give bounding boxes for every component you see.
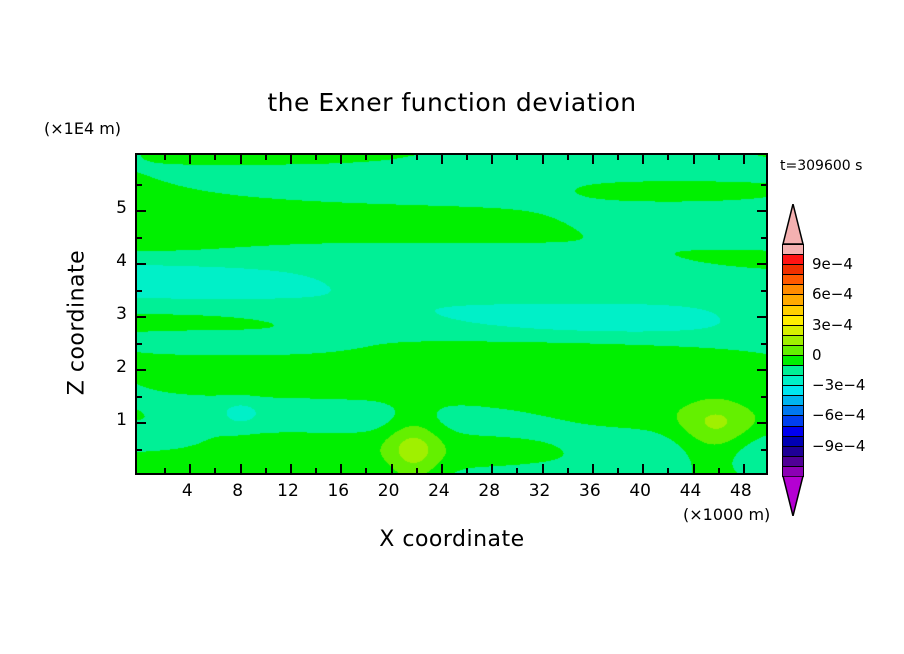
x-tick-major — [391, 464, 393, 473]
colorbar-label: 6e−4 — [812, 285, 853, 303]
y-tick-label: 3 — [107, 304, 127, 324]
y-tick-major-right — [757, 422, 766, 424]
x-tick-minor-top — [164, 155, 166, 160]
x-tick-major — [189, 464, 191, 473]
x-tick-minor — [617, 468, 619, 473]
colorbar — [782, 204, 804, 516]
x-tick-major — [542, 464, 544, 473]
x-tick-label: 28 — [478, 481, 500, 501]
x-tick-major — [340, 464, 342, 473]
x-tick-major-top — [290, 155, 292, 164]
x-tick-label: 16 — [327, 481, 349, 501]
x-tick-major-top — [743, 155, 745, 164]
y-tick-minor — [137, 449, 142, 451]
x-tick-label: 12 — [277, 481, 299, 501]
y-tick-minor-right — [761, 343, 766, 345]
x-tick-label: 44 — [680, 481, 702, 501]
x-tick-major-top — [391, 155, 393, 164]
colorbar-label: 9e−4 — [812, 255, 853, 273]
x-tick-minor-top — [667, 155, 669, 160]
colorbar-label: −9e−4 — [812, 437, 865, 455]
y-tick-minor-right — [761, 396, 766, 398]
y-tick-minor — [137, 396, 142, 398]
colorbar-label: −3e−4 — [812, 376, 865, 394]
contour-field — [137, 155, 766, 473]
x-tick-minor-top — [617, 155, 619, 160]
x-tick-minor-top — [718, 155, 720, 160]
x-tick-minor — [718, 468, 720, 473]
x-tick-minor — [265, 468, 267, 473]
x-tick-minor-top — [416, 155, 418, 160]
y-tick-major-right — [757, 369, 766, 371]
x-axis-title: X coordinate — [0, 527, 904, 552]
x-tick-minor — [466, 468, 468, 473]
x-tick-major — [240, 464, 242, 473]
y-axis-title: Z coordinate — [65, 223, 90, 423]
y-tick-minor-right — [761, 290, 766, 292]
y-tick-minor — [137, 290, 142, 292]
x-tick-minor-top — [214, 155, 216, 160]
x-tick-major-top — [642, 155, 644, 164]
y-tick-major — [137, 210, 146, 212]
y-tick-label: 1 — [107, 410, 127, 430]
y-tick-major — [137, 316, 146, 318]
colorbar-bottom-arrow — [782, 476, 804, 516]
x-tick-major-top — [542, 155, 544, 164]
x-tick-major — [642, 464, 644, 473]
x-tick-major-top — [441, 155, 443, 164]
x-tick-major — [491, 464, 493, 473]
colorbar-top-arrow — [782, 204, 804, 244]
x-tick-minor — [516, 468, 518, 473]
x-tick-major-top — [693, 155, 695, 164]
y-tick-major — [137, 422, 146, 424]
y-tick-minor — [137, 343, 142, 345]
x-tick-major-top — [491, 155, 493, 164]
y-tick-minor — [137, 237, 142, 239]
contour-plot-area — [135, 153, 768, 475]
x-tick-major-top — [189, 155, 191, 164]
timestamp-annotation: t=309600 s — [780, 158, 862, 174]
y-tick-label: 4 — [107, 251, 127, 271]
x-tick-minor — [214, 468, 216, 473]
x-tick-minor-top — [567, 155, 569, 160]
x-tick-minor — [365, 468, 367, 473]
y-tick-minor-right — [761, 449, 766, 451]
x-tick-major — [693, 464, 695, 473]
y-tick-major — [137, 369, 146, 371]
x-tick-label: 24 — [428, 481, 450, 501]
x-tick-major — [290, 464, 292, 473]
x-tick-label: 32 — [529, 481, 551, 501]
x-tick-minor — [667, 468, 669, 473]
x-tick-label: 48 — [730, 481, 752, 501]
x-tick-major-top — [340, 155, 342, 164]
page-title: the Exner function deviation — [0, 88, 904, 117]
colorbar-label: −6e−4 — [812, 406, 865, 424]
x-tick-label: 36 — [579, 481, 601, 501]
x-tick-label: 20 — [378, 481, 400, 501]
x-tick-minor — [416, 468, 418, 473]
x-tick-minor-top — [466, 155, 468, 160]
x-tick-minor-top — [315, 155, 317, 160]
x-tick-minor-top — [265, 155, 267, 160]
y-tick-major-right — [757, 263, 766, 265]
x-tick-minor-top — [516, 155, 518, 160]
x-tick-major — [592, 464, 594, 473]
colorbar-label: 3e−4 — [812, 316, 853, 334]
x-tick-major — [743, 464, 745, 473]
x-tick-major-top — [240, 155, 242, 164]
x-tick-label: 40 — [629, 481, 651, 501]
x-tick-major — [441, 464, 443, 473]
colorbar-label: 0 — [812, 346, 822, 364]
x-tick-minor — [315, 468, 317, 473]
x-tick-minor-top — [365, 155, 367, 160]
x-tick-label: 8 — [232, 481, 243, 501]
y-tick-label: 5 — [107, 198, 127, 218]
y-tick-major-right — [757, 210, 766, 212]
y-tick-major — [137, 263, 146, 265]
x-tick-minor — [567, 468, 569, 473]
x-tick-major-top — [592, 155, 594, 164]
y-tick-label: 2 — [107, 357, 127, 377]
y-axis-unit-label: (×1E4 m) — [44, 119, 121, 138]
x-tick-label: 4 — [182, 481, 193, 501]
x-axis-unit-label: (×1000 m) — [683, 505, 770, 524]
x-tick-minor — [164, 468, 166, 473]
y-tick-minor-right — [761, 184, 766, 186]
y-tick-minor — [137, 184, 142, 186]
y-tick-major-right — [757, 316, 766, 318]
y-tick-minor-right — [761, 237, 766, 239]
